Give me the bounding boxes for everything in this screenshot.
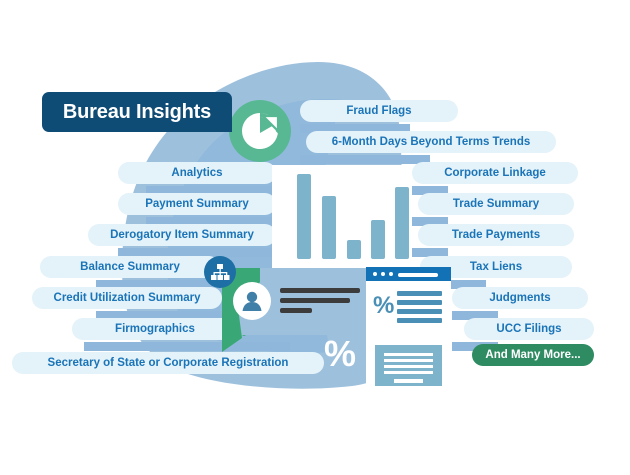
pill-corporate-linkage[interactable]: Corporate Linkage	[412, 162, 578, 184]
pie-chart-icon	[229, 100, 291, 162]
doc-text-line	[397, 300, 442, 305]
pill-trade-payments[interactable]: Trade Payments	[418, 224, 574, 246]
doc-preview-panel	[375, 345, 442, 386]
text-line	[280, 298, 350, 303]
banner: Bureau Insights	[42, 92, 232, 132]
pill-label: Payment Summary	[145, 198, 249, 210]
pill-judgments[interactable]: Judgments	[452, 287, 588, 309]
chart-bar	[371, 220, 385, 259]
pill-label: Secretary of State or Corporate Registra…	[48, 357, 289, 369]
pill-credit-utilization-summary[interactable]: Credit Utilization Summary	[32, 287, 222, 309]
document-title-bar	[366, 267, 451, 281]
pill-and-many-more[interactable]: And Many More...	[472, 344, 594, 366]
page-title: Bureau Insights	[63, 101, 211, 124]
document-card: %	[366, 267, 451, 389]
infographic-canvas: Analytics Payment Summary Derogatory Ite…	[0, 0, 630, 475]
chart-bar	[322, 196, 336, 259]
pill-derogatory-item-summary[interactable]: Derogatory Item Summary	[88, 224, 276, 246]
pill-label: Derogatory Item Summary	[110, 229, 254, 241]
doc-text-line	[397, 291, 442, 296]
pill-label: Balance Summary	[80, 261, 180, 273]
pill-secretary-of-state[interactable]: Secretary of State or Corporate Registra…	[12, 352, 324, 374]
pill-label: Fraud Flags	[346, 105, 411, 117]
percent-symbol: %	[373, 294, 394, 318]
window-dot	[373, 272, 377, 276]
pill-label: Credit Utilization Summary	[54, 292, 201, 304]
bar-chart-card	[272, 165, 412, 268]
pill-label: Tax Liens	[470, 261, 522, 273]
window-dot	[389, 272, 393, 276]
person-avatar-icon	[233, 282, 271, 320]
doc-text-line	[397, 309, 442, 314]
chart-bar	[347, 240, 361, 259]
pill-label: UCC Filings	[496, 323, 561, 335]
doc-text-line	[397, 318, 442, 323]
pill-label: 6-Month Days Beyond Terms Trends	[332, 136, 531, 148]
pill-label: Analytics	[171, 167, 222, 179]
pill-label: Judgments	[489, 292, 550, 304]
window-dot	[381, 272, 385, 276]
pill-label: Trade Summary	[453, 198, 539, 210]
doc-preview-line	[394, 379, 423, 383]
doc-preview-line	[384, 353, 433, 356]
doc-preview-line	[384, 359, 433, 362]
pill-fraud-flags[interactable]: Fraud Flags	[300, 100, 458, 122]
pill-trade-summary[interactable]: Trade Summary	[418, 193, 574, 215]
pill-label: Firmographics	[115, 323, 195, 335]
pill-label: Trade Payments	[452, 229, 540, 241]
pill-6-month-dbt-trends[interactable]: 6-Month Days Beyond Terms Trends	[306, 131, 556, 153]
pill-balance-summary[interactable]: Balance Summary	[40, 256, 220, 278]
pill-analytics[interactable]: Analytics	[118, 162, 276, 184]
text-line	[280, 288, 360, 293]
chart-bar	[395, 187, 409, 259]
pill-tab	[300, 155, 430, 164]
org-hierarchy-icon	[204, 256, 236, 288]
pill-payment-summary[interactable]: Payment Summary	[118, 193, 276, 215]
doc-preview-line	[384, 365, 433, 368]
chart-bar	[297, 174, 311, 259]
pill-ucc-filings[interactable]: UCC Filings	[464, 318, 594, 340]
text-line	[280, 308, 312, 313]
pill-firmographics[interactable]: Firmographics	[72, 318, 238, 340]
url-bar	[398, 273, 438, 277]
doc-preview-line	[384, 371, 433, 374]
pill-label: And Many More...	[485, 349, 580, 361]
pill-label: Corporate Linkage	[444, 167, 546, 179]
percent-symbol: %	[324, 336, 356, 372]
